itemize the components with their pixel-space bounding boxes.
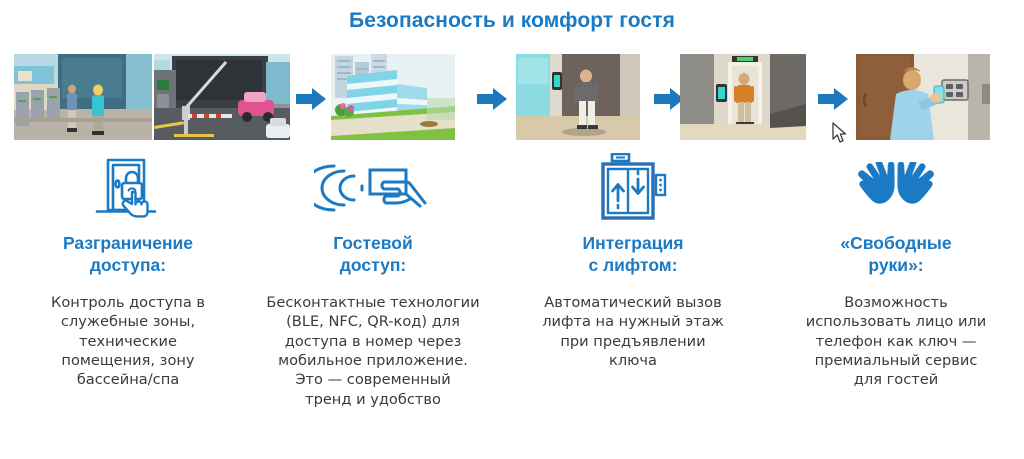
contactless-card-hand-icon [245, 150, 501, 226]
mouse-pointer-cursor [832, 122, 848, 144]
open-hands-icon-graphic [853, 162, 939, 214]
flow-image-car-barrier [154, 54, 290, 140]
right-arrow-icon [477, 87, 507, 111]
feature-heading: Интеграция с лифтом: [505, 232, 761, 277]
feature-body: Бесконтактные технологии (BLE, NFC, QR-к… [245, 293, 501, 409]
slide-canvas: Безопасность и комфорт гостя [0, 0, 1024, 459]
door-lock-hand-icon-graphic [95, 155, 161, 221]
car-barrier-illustration [154, 54, 290, 140]
contactless-card-hand-icon-graphic [314, 160, 432, 216]
feature-body: Возможность использовать лицо или телефо… [768, 293, 1024, 390]
flow-image-turnstiles [14, 54, 152, 140]
corridor-access-reader-illustration [516, 54, 640, 140]
feature-column-access-segregation: Разграничение доступа: Контроль доступа … [0, 150, 256, 390]
feature-column-guest-access: Гостевой доступ: Бесконтактные технологи… [245, 150, 501, 409]
right-arrow-icon-2 [477, 87, 507, 111]
feature-body: Контроль доступа в служебные зоны, техни… [0, 293, 256, 390]
right-arrow-icon-1 [296, 87, 326, 111]
feature-heading: «Свободные руки»: [768, 232, 1024, 277]
page-title: Безопасность и комфорт гостя [0, 9, 1024, 33]
right-arrow-icon [296, 87, 326, 111]
flow-image-corridor-reader [516, 54, 640, 140]
elevator-icon [505, 150, 761, 226]
right-arrow-icon-4 [818, 87, 848, 111]
flow-image-door-entry [680, 54, 806, 140]
feature-heading: Гостевой доступ: [245, 232, 501, 277]
flow-image-phone-unlock [856, 54, 990, 140]
feature-column-elevator-integration: Интеграция с лифтом: Автоматический вызо… [505, 150, 761, 370]
right-arrow-icon [818, 87, 848, 111]
feature-heading: Разграничение доступа: [0, 232, 256, 277]
cursor-arrow-icon [832, 122, 848, 144]
process-flow-strip [0, 54, 1024, 140]
feature-column-hands-free: «Свободные руки»: Возможность использова… [768, 150, 1024, 390]
hotel-building-illustration [331, 54, 455, 140]
elevator-icon-graphic [598, 153, 668, 223]
door-lock-hand-icon [0, 150, 256, 226]
flow-image-hotel-building [331, 54, 455, 140]
turnstiles-illustration [14, 54, 152, 140]
feature-body: Автоматический вызов лифта на нужный эта… [505, 293, 761, 371]
phone-unlock-illustration [856, 54, 990, 140]
door-entry-illustration [680, 54, 806, 140]
open-hands-icon [768, 150, 1024, 226]
